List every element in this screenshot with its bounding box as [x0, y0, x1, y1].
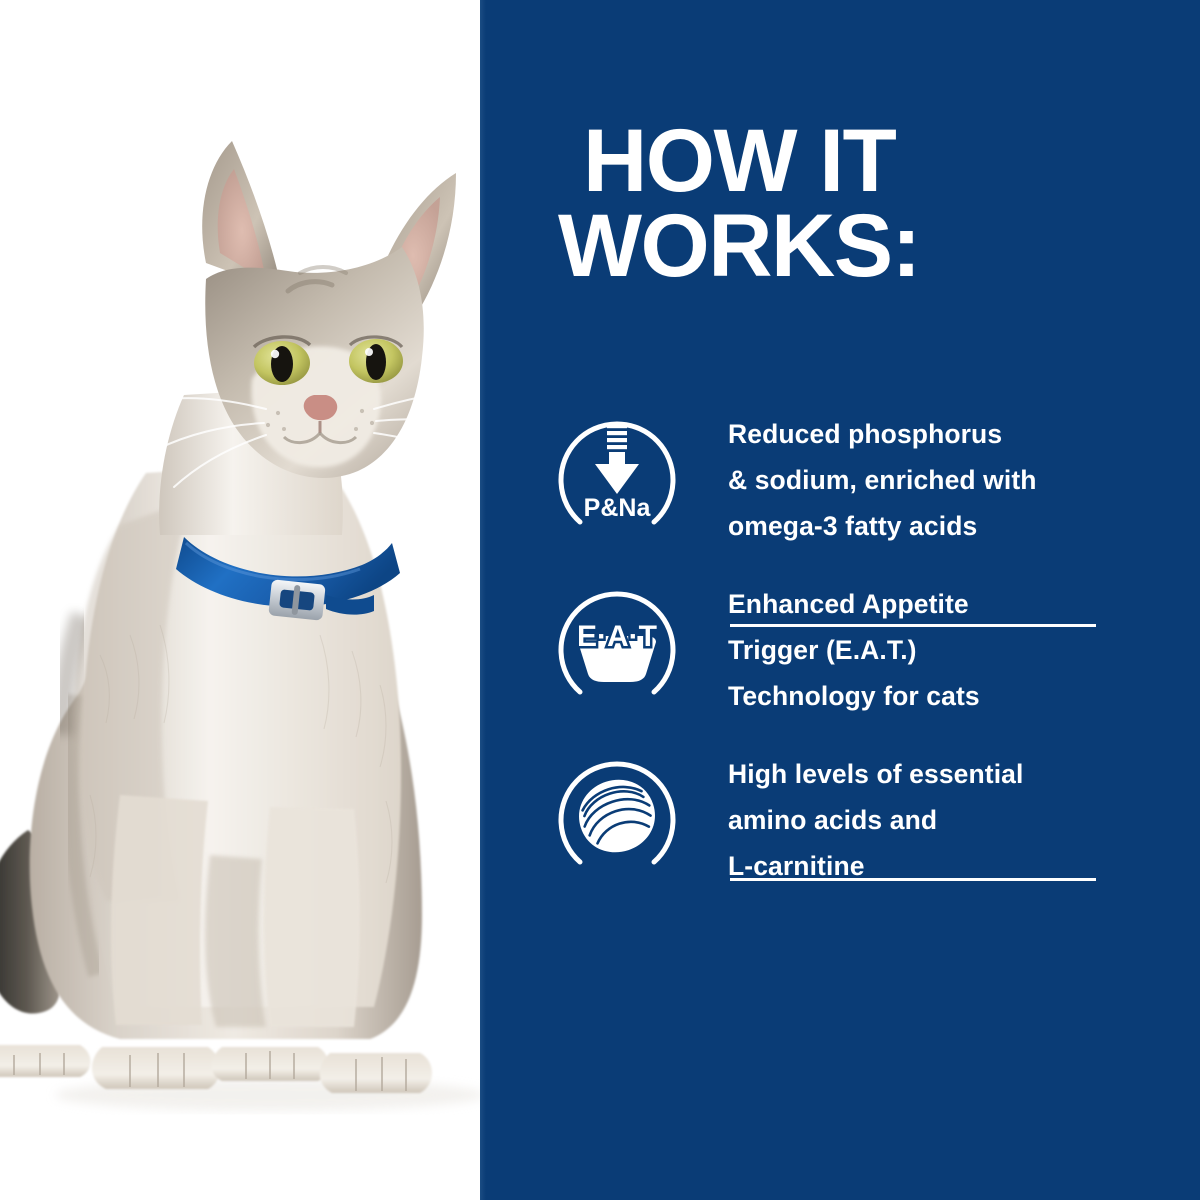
feature-list: P&Na Reduced phosphorus & sodium, enrich… [480, 404, 1200, 914]
page-title: HOW IT WORKS: [583, 118, 1183, 289]
icon-label-p-and-na: P&Na [584, 494, 652, 522]
feature-2-line-2: Trigger (E.A.T.) [728, 635, 917, 665]
feature-2-line-1: Enhanced Appetite [728, 589, 969, 619]
cat-photo [0, 95, 486, 1130]
feature-3-line-3: L-carnitine [728, 851, 865, 881]
cat-photo-panel [0, 0, 486, 1200]
feature-item-reduced-phosphorus: P&Na Reduced phosphorus & sodium, enrich… [480, 404, 1200, 574]
icon-label-eat: E·A·T [577, 620, 657, 653]
muscle-amino-acids-icon [552, 744, 682, 874]
feature-1-line-2: & sodium, enriched with [728, 465, 1037, 495]
eat-technology-icon: E·A·T [552, 574, 682, 704]
reduced-phosphorus-sodium-icon: P&Na [552, 404, 682, 534]
feature-3-line-2: amino acids and [728, 805, 937, 835]
feature-1-line-3: omega-3 fatty acids [728, 511, 977, 541]
page-title-line-2: WORKS: [558, 203, 1183, 288]
feature-2-line-3: Technology for cats [728, 681, 980, 711]
feature-text-amino-acids: High levels of essential amino acids and… [728, 744, 1023, 889]
feature-item-eat-technology: E·A·T Enhanced Appetite Trigger (E.A.T.)… [480, 574, 1200, 744]
feature-item-amino-acids: High levels of essential amino acids and… [480, 744, 1200, 914]
info-panel: HOW IT WORKS: [480, 0, 1200, 1200]
feature-text-reduced-phosphorus: Reduced phosphorus & sodium, enriched wi… [728, 404, 1037, 549]
feature-text-eat-technology: Enhanced Appetite Trigger (E.A.T.) Techn… [728, 574, 980, 719]
feature-3-line-1: High levels of essential [728, 759, 1023, 789]
how-it-works-banner: HOW IT WORKS: [0, 0, 1200, 1200]
feature-1-line-1: Reduced phosphorus [728, 419, 1002, 449]
